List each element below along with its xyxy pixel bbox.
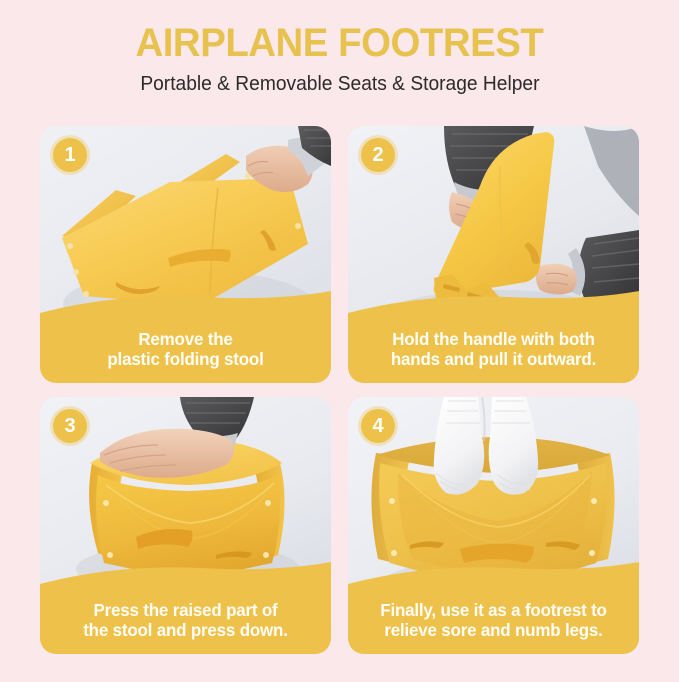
- step-panel-2: 2 Hold the handle with both hands and pu…: [348, 126, 639, 383]
- step-caption-band-1: Remove the plastic folding stool: [40, 291, 331, 383]
- step-panel-4: 4 Finally, use it as a footrest to relie…: [348, 397, 639, 654]
- step-panel-1: 1 Remove the plastic folding stool: [40, 126, 331, 383]
- step-panel-3: 3 Press the raised part of the stool and…: [40, 397, 331, 654]
- step-caption-text-2: Hold the handle with both hands and pull…: [352, 329, 634, 370]
- infographic-page: AIRPLANE FOOTREST Portable & Removable S…: [0, 0, 679, 682]
- step-caption-band-3: Press the raised part of the stool and p…: [40, 562, 331, 654]
- page-subtitle: Portable & Removable Seats & Storage Hel…: [140, 73, 539, 95]
- step-number-badge-1: 1: [53, 138, 87, 172]
- step-caption-text-4: Finally, use it as a footrest to relieve…: [352, 600, 634, 641]
- steps-grid: 1 Remove the plastic folding stool: [40, 126, 639, 646]
- step-number-badge-3: 3: [53, 409, 87, 443]
- step-number-badge-4: 4: [361, 409, 395, 443]
- step-caption-band-4: Finally, use it as a footrest to relieve…: [348, 562, 639, 654]
- step-caption-text-1: Remove the plastic folding stool: [44, 329, 326, 370]
- step-number-badge-2: 2: [361, 138, 395, 172]
- header: AIRPLANE FOOTREST Portable & Removable S…: [0, 0, 679, 120]
- step-caption-band-2: Hold the handle with both hands and pull…: [348, 291, 639, 383]
- page-title: AIRPLANE FOOTREST: [136, 22, 544, 64]
- step-caption-text-3: Press the raised part of the stool and p…: [44, 600, 326, 641]
